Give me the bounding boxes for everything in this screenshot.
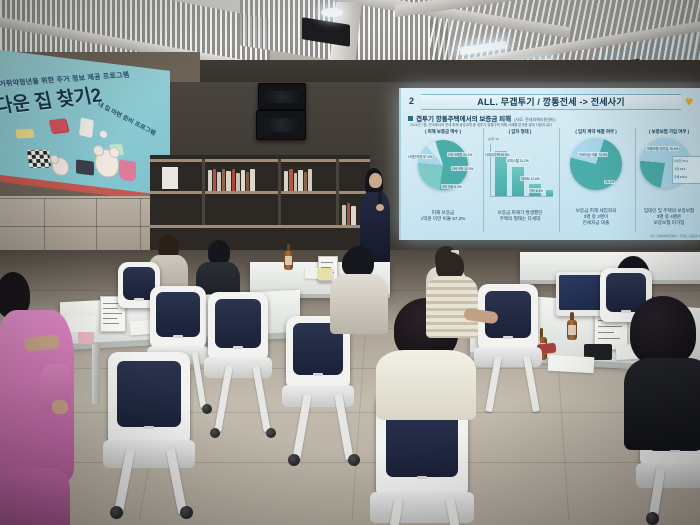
chart-2-label-2: 아파트 12.6% <box>520 176 541 181</box>
chair-front-left[interactable] <box>108 352 190 444</box>
chart-panel-2: ( 임차 형태 ) (단위: %) 다세대주택 49.8% 오피스텔 31.2%… <box>483 128 556 232</box>
chart-panel-1: ( 피해 보증금 액수 ) 1억원 미만 57.2% 1억~2억원 24.1% … <box>407 128 479 232</box>
chart-2-bar-1 <box>512 167 524 196</box>
chart-4-caption: 임대인 및 주택의 보증보험 3명 중 4명은 보증보험 미가입 <box>638 208 700 226</box>
chart-4-legend-row-2: 합계 100.0 <box>674 175 687 179</box>
banner-prop-suitcase <box>76 159 94 175</box>
slide-number: 2 <box>405 95 418 108</box>
right-attendee-hair <box>630 296 696 366</box>
chart-4-title: ( 보증보험 가입 여부 ) <box>636 129 700 135</box>
slide-title: ALL. 무갭투기 / 깡통전세 -> 전세사기 <box>421 94 681 110</box>
chart-1-label-0: 1억원 미만 57.2% <box>407 154 433 159</box>
chart-1-caption: 피해 보증금 1억원 미만 비율 57.2% <box>409 210 477 222</box>
chair-left-2-caster-b <box>266 428 276 438</box>
slide-note: 2021년 7월, 전국에서의 전세 피해 상담내역 중 갭투기·깡통주택 피해… <box>410 122 697 127</box>
table-left-mid-leg <box>92 344 100 404</box>
cup-pink <box>78 330 94 344</box>
seminar-room-photo: 주거취약청년을 위한 주거 정보 제공 프로그램 다운 집 찾기2 내 집 마련… <box>0 0 700 525</box>
pink-attendee-lap <box>0 468 70 525</box>
chart-2-bar-3 <box>546 190 553 196</box>
banner-prop-bag <box>119 160 136 182</box>
ceiling-speaker-top <box>258 83 306 110</box>
chart-2-title: ( 임차 형태 ) <box>484 129 556 135</box>
chart-panel-4: ( 보증보험 가입 여부 ) 보증보험 미가입 76.4% 미가입 76.4 가… <box>635 128 700 232</box>
event-banner: 주거취약청년을 위한 주거 정보 제공 프로그램 다운 집 찾기2 내 집 마련… <box>0 49 170 203</box>
presentation-slide: 2 ALL. 무갭투기 / 깡통전세 -> 전세사기 ♥ 갭투기 깡통주택에서의… <box>401 88 700 240</box>
white-attendee-body <box>376 350 476 420</box>
chair-left-1[interactable] <box>150 286 206 348</box>
chart-1-title: ( 피해 보증금 액수 ) <box>407 129 479 135</box>
chart-2-label-1: 오피스텔 31.2% <box>506 158 530 163</box>
chart-2-caption: 보증금 피해가 발생했던 주택의 형태는 다세대 <box>486 210 554 222</box>
chart-3-caption: 보증금 피해 세입자의 3명 중 2명이 전세자금 대출 <box>562 208 630 226</box>
banner-prop-book <box>49 118 69 133</box>
striped-attendee-body <box>426 276 478 338</box>
chair-front-left-caster-a <box>110 506 123 519</box>
chair-far-right-caster <box>646 512 659 525</box>
chart-4-label-0: 보증보험 미가입 76.4% <box>646 146 679 151</box>
chart-3-label-1: 26.1% <box>604 180 615 184</box>
banner-mouse-ear-right <box>109 146 120 158</box>
shelf-display-card <box>162 167 178 189</box>
attendee-foreground-left-pink <box>0 272 80 525</box>
banner-mouse-small-ear <box>50 154 59 164</box>
chart-1-label-3: 3억 이상 6.4% <box>441 184 463 189</box>
chart-2-label-0: 다세대주택 49.8% <box>484 152 511 157</box>
chair-left-1-caster-b <box>202 404 212 414</box>
banner-prop-note <box>15 129 34 139</box>
chart-4-legend-row-1: 가입 23.6 <box>674 167 685 171</box>
banner-prop-coin <box>100 130 107 138</box>
banner-prop-card <box>79 117 94 138</box>
chart-4-legend-row-0: 미가입 76.4 <box>674 159 688 163</box>
paper-right-2 <box>548 355 595 373</box>
grey-attendee-body <box>330 274 388 334</box>
chart-2-label-3: 기타 6.4% <box>528 188 544 193</box>
right-attendee-body <box>624 358 700 450</box>
chair-mid-right-caster-b <box>348 454 360 466</box>
chart-2-subtitle: (단위: %) <box>488 137 499 141</box>
pink-attendee-hand <box>52 400 68 414</box>
chair-left-2-caster-a <box>210 428 220 438</box>
chair-front-left-caster-b <box>180 506 193 519</box>
slide-source: 자료: 전세피해지원센터 · 주택도시보증공사 <box>650 234 700 238</box>
chart-4-legend: 미가입 76.4 가입 23.6 합계 100.0 <box>672 156 700 184</box>
bunny-mascot-icon: ♥ <box>685 92 700 110</box>
chart-3-label-0: 전세자금 대출 73.9% <box>578 152 608 157</box>
ceiling-speaker-bottom <box>256 110 306 140</box>
presenter-hand <box>376 204 384 211</box>
chart-1-pie <box>418 140 468 190</box>
chart-panel-3: ( 임차 계약 체결 여부 ) 전세자금 대출 73.9% 26.1% 보증금 … <box>559 128 632 232</box>
bullet-marker-icon <box>408 116 413 121</box>
banner-prop-checker <box>27 150 51 169</box>
chart-1-label-2: 2억~3억 12.3% <box>451 166 474 171</box>
attendee-mid-grey <box>330 246 388 332</box>
chair-mid-right-caster-a <box>288 454 300 466</box>
chart-3-title: ( 임차 계약 체결 여부 ) <box>560 129 632 135</box>
bottle-center <box>284 244 293 270</box>
chart-1-label-1: 1억~2억원 24.1% <box>447 152 473 157</box>
projection-screen: 2 ALL. 무갭투기 / 깡통전세 -> 전세사기 ♥ 갭투기 깡통주택에서의… <box>399 88 700 240</box>
attendee-mid-striped <box>426 252 478 336</box>
banner-mouse-ear-left <box>93 144 104 156</box>
presenter-head <box>369 173 382 188</box>
bottle-right-2 <box>567 312 577 340</box>
chair-left-2[interactable] <box>208 292 268 360</box>
attendee-foreground-right-dark <box>624 296 700 446</box>
